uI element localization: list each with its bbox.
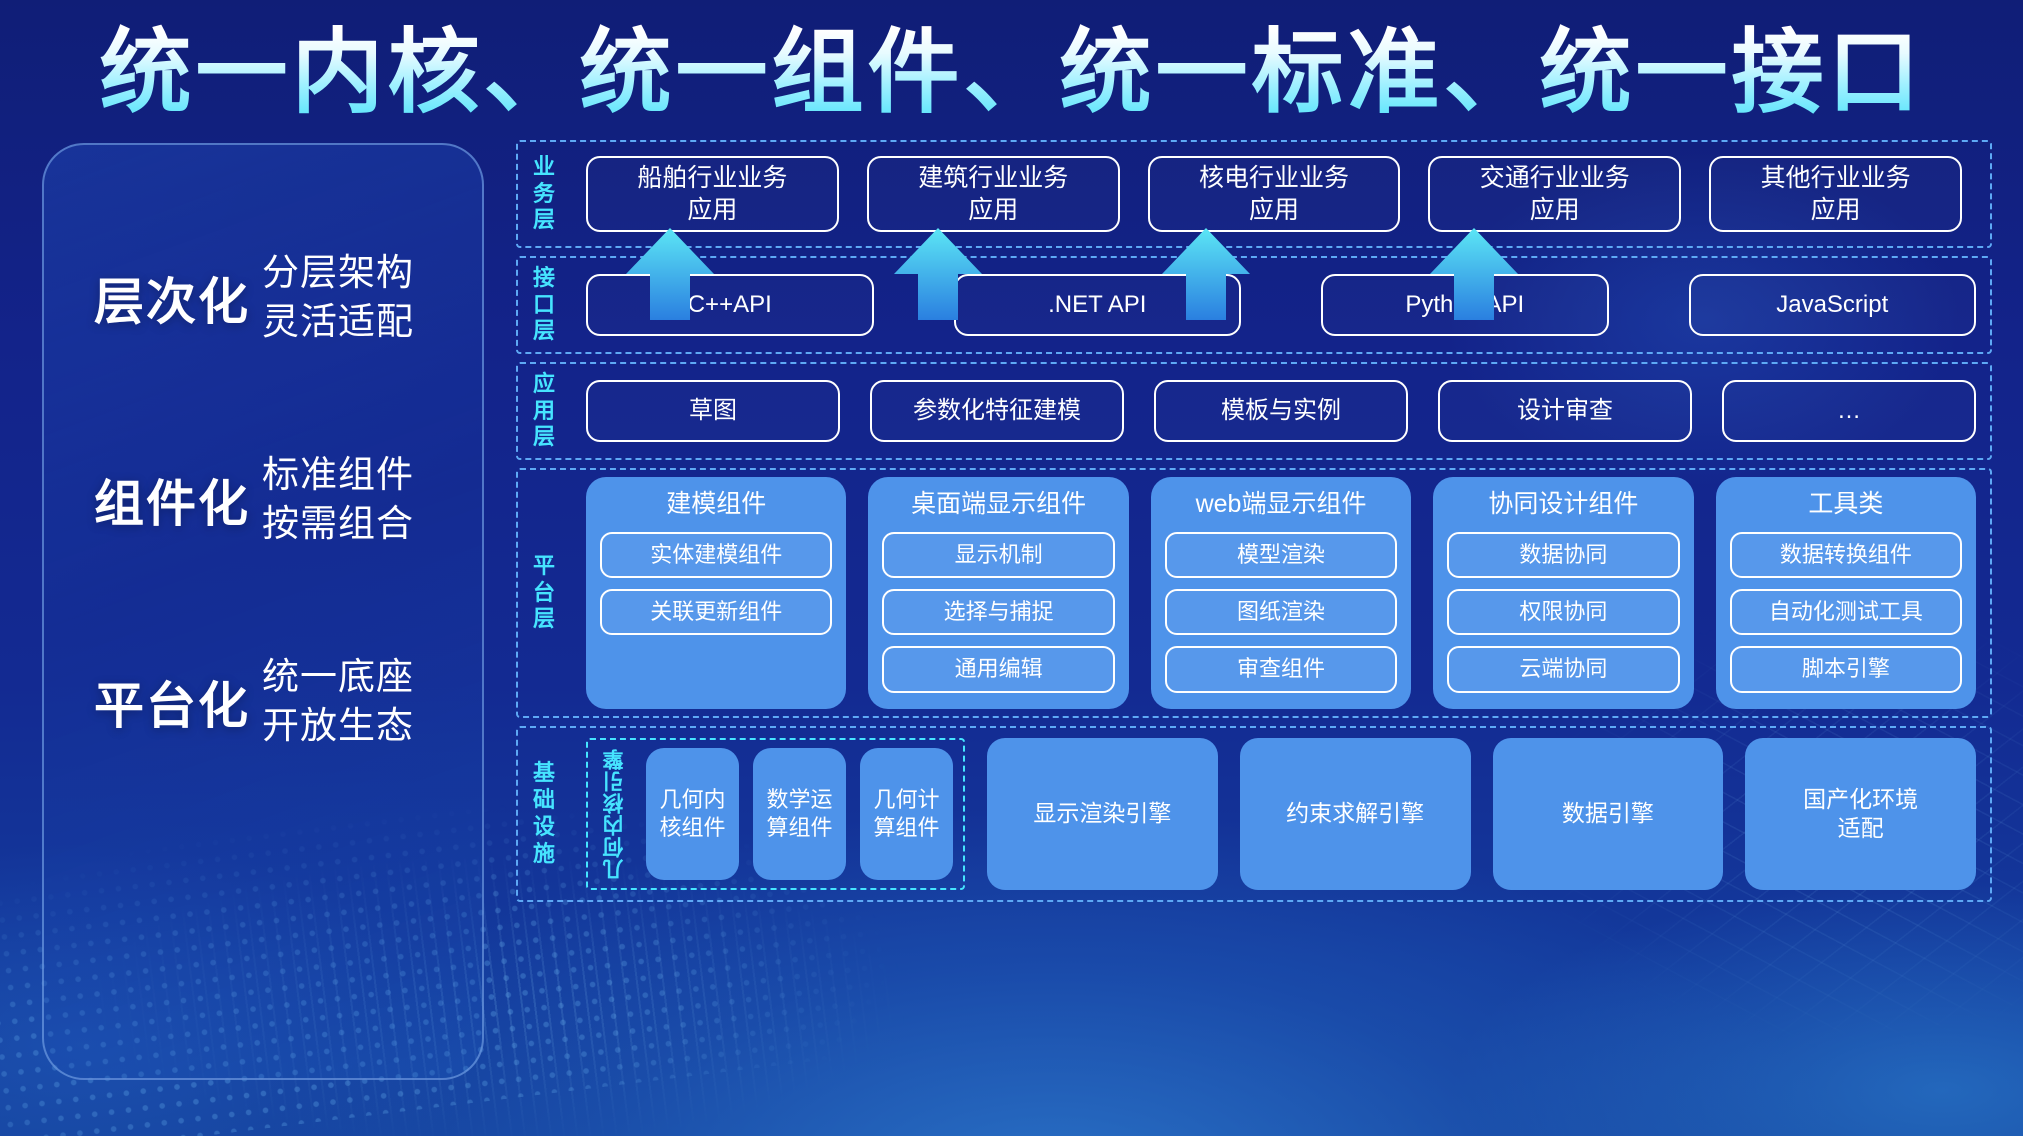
platform-column-title: web端显示组件 bbox=[1165, 491, 1397, 519]
interface-card[interactable]: .NET API bbox=[954, 274, 1242, 336]
platform-column-items: 数据转换组件 自动化测试工具 脚本引擎 bbox=[1730, 532, 1962, 693]
interface-card[interactable]: JavaScript bbox=[1689, 274, 1977, 336]
platform-item[interactable]: 实体建模组件 bbox=[600, 532, 832, 578]
principle-description: 统一底座 开放生态 bbox=[262, 653, 414, 751]
application-card[interactable]: 草图 bbox=[586, 380, 840, 442]
platform-column-title: 协同设计组件 bbox=[1447, 491, 1679, 519]
platform-item[interactable]: 选择与捕捉 bbox=[882, 589, 1114, 635]
platform-item[interactable]: 数据协同 bbox=[1447, 532, 1679, 578]
platform-column: 桌面端显示组件 显示机制 选择与捕捉 通用编辑 bbox=[868, 477, 1128, 708]
platform-column-title: 建模组件 bbox=[600, 491, 832, 519]
application-card[interactable]: 参数化特征建模 bbox=[870, 380, 1124, 442]
principle-keyword: 层次化 bbox=[44, 262, 262, 334]
platform-column: 建模组件 实体建模组件 关联更新组件 bbox=[586, 477, 846, 708]
geometry-kernel-engine-group: 几何内核引擎 几何内核组件 数学运算组件 几何计算组件 bbox=[586, 738, 965, 890]
platform-column: 协同设计组件 数据协同 权限协同 云端协同 bbox=[1433, 477, 1693, 708]
platform-column-items: 模型渲染 图纸渲染 审查组件 bbox=[1165, 532, 1397, 693]
principle-row-3: 平台化 统一底座 开放生态 bbox=[44, 653, 486, 751]
business-card[interactable]: 建筑行业业务应用 bbox=[867, 156, 1120, 232]
slide-canvas: 统一内核、统一组件、统一标准、统一接口 层次化 分层架构 灵活适配 组件化 标准… bbox=[0, 0, 2023, 1136]
geometry-kernel-engine-label: 几何内核引擎 bbox=[598, 748, 632, 880]
interface-card[interactable]: Python API bbox=[1321, 274, 1609, 336]
layer-body-application: 草图 参数化特征建模 模板与实例 设计审查 … bbox=[572, 380, 1990, 442]
infra-engine-box[interactable]: 数据引擎 bbox=[1493, 738, 1724, 890]
principle-row-1: 层次化 分层架构 灵活适配 bbox=[44, 249, 486, 347]
layer-label-infrastructure: 基础设施 bbox=[518, 760, 572, 867]
business-card[interactable]: 交通行业业务应用 bbox=[1428, 156, 1681, 232]
infra-kernel-box[interactable]: 数学运算组件 bbox=[753, 748, 846, 880]
architecture-stack: 业务层 船舶行业业务应用 建筑行业业务应用 核电行业业务应用 交通行业业务应用 … bbox=[516, 140, 1992, 910]
infrastructure-engines: 显示渲染引擎 约束求解引擎 数据引擎 国产化环境适配 bbox=[987, 738, 1976, 890]
layer-platform: 平台层 建模组件 实体建模组件 关联更新组件 桌面端显示组件 显示机制 选择与捕… bbox=[516, 468, 1992, 718]
infra-kernel-box[interactable]: 几何计算组件 bbox=[860, 748, 953, 880]
infra-engine-box[interactable]: 约束求解引擎 bbox=[1240, 738, 1471, 890]
application-card[interactable]: 模板与实例 bbox=[1154, 380, 1408, 442]
principle-line-2: 灵活适配 bbox=[262, 298, 414, 347]
platform-item[interactable]: 模型渲染 bbox=[1165, 532, 1397, 578]
principle-keyword: 平台化 bbox=[44, 666, 262, 738]
platform-item[interactable]: 云端协同 bbox=[1447, 646, 1679, 692]
layer-body-platform: 建模组件 实体建模组件 关联更新组件 桌面端显示组件 显示机制 选择与捕捉 通用… bbox=[572, 467, 1990, 718]
platform-column-title: 桌面端显示组件 bbox=[882, 491, 1114, 519]
principle-line-1: 分层架构 bbox=[262, 249, 414, 298]
platform-item[interactable]: 脚本引擎 bbox=[1730, 646, 1962, 692]
platform-item[interactable]: 图纸渲染 bbox=[1165, 589, 1397, 635]
layer-body-interface: C++API .NET API Python API JavaScript bbox=[572, 274, 1990, 336]
platform-item[interactable]: 关联更新组件 bbox=[600, 589, 832, 635]
layer-label-platform: 平台层 bbox=[518, 553, 572, 633]
business-card[interactable]: 核电行业业务应用 bbox=[1148, 156, 1401, 232]
principle-keyword: 组件化 bbox=[44, 464, 262, 536]
page-title: 统一内核、统一组件、统一标准、统一接口 bbox=[0, 22, 2023, 125]
layer-infrastructure: 基础设施 几何内核引擎 几何内核组件 数学运算组件 几何计算组件 显示渲染引擎 … bbox=[516, 726, 1992, 902]
layer-interface: 接口层 C++API .NET API Python API JavaScrip… bbox=[516, 256, 1992, 354]
platform-item[interactable]: 通用编辑 bbox=[882, 646, 1114, 692]
platform-item[interactable]: 审查组件 bbox=[1165, 646, 1397, 692]
layer-label-interface: 接口层 bbox=[518, 265, 572, 345]
platform-item[interactable]: 显示机制 bbox=[882, 532, 1114, 578]
layer-label-application: 应用层 bbox=[518, 371, 572, 451]
platform-column-items: 显示机制 选择与捕捉 通用编辑 bbox=[882, 532, 1114, 693]
layer-body-business: 船舶行业业务应用 建筑行业业务应用 核电行业业务应用 交通行业业务应用 其他行业… bbox=[572, 156, 1976, 232]
infra-engine-box[interactable]: 国产化环境适配 bbox=[1745, 738, 1976, 890]
platform-column-items: 实体建模组件 关联更新组件 bbox=[600, 532, 832, 693]
principle-line-1: 统一底座 bbox=[262, 653, 414, 702]
principle-line-1: 标准组件 bbox=[262, 451, 414, 500]
platform-item[interactable]: 自动化测试工具 bbox=[1730, 589, 1962, 635]
principle-line-2: 开放生态 bbox=[262, 702, 414, 751]
platform-column-title: 工具类 bbox=[1730, 491, 1962, 519]
application-card[interactable]: 设计审查 bbox=[1438, 380, 1692, 442]
layer-label-business: 业务层 bbox=[518, 154, 572, 234]
platform-item[interactable]: 数据转换组件 bbox=[1730, 532, 1962, 578]
business-card[interactable]: 船舶行业业务应用 bbox=[586, 156, 839, 232]
interface-card[interactable]: C++API bbox=[586, 274, 874, 336]
platform-column-items: 数据协同 权限协同 云端协同 bbox=[1447, 532, 1679, 693]
principle-row-2: 组件化 标准组件 按需组合 bbox=[44, 451, 486, 549]
application-card[interactable]: … bbox=[1722, 380, 1976, 442]
layer-application: 应用层 草图 参数化特征建模 模板与实例 设计审查 … bbox=[516, 362, 1992, 460]
principle-line-2: 按需组合 bbox=[262, 500, 414, 549]
business-card[interactable]: 其他行业业务应用 bbox=[1709, 156, 1962, 232]
platform-item[interactable]: 权限协同 bbox=[1447, 589, 1679, 635]
principle-description: 分层架构 灵活适配 bbox=[262, 249, 414, 347]
infra-engine-box[interactable]: 显示渲染引擎 bbox=[987, 738, 1218, 890]
layer-body-infrastructure: 几何内核引擎 几何内核组件 数学运算组件 几何计算组件 显示渲染引擎 约束求解引… bbox=[572, 728, 1990, 900]
principle-description: 标准组件 按需组合 bbox=[262, 451, 414, 549]
principles-panel: 层次化 分层架构 灵活适配 组件化 标准组件 按需组合 平台化 统一底座 开放生… bbox=[42, 143, 484, 1080]
infra-kernel-box[interactable]: 几何内核组件 bbox=[646, 748, 739, 880]
layer-business: 业务层 船舶行业业务应用 建筑行业业务应用 核电行业业务应用 交通行业业务应用 … bbox=[516, 140, 1992, 248]
platform-column: web端显示组件 模型渲染 图纸渲染 审查组件 bbox=[1151, 477, 1411, 708]
platform-column: 工具类 数据转换组件 自动化测试工具 脚本引擎 bbox=[1716, 477, 1976, 708]
